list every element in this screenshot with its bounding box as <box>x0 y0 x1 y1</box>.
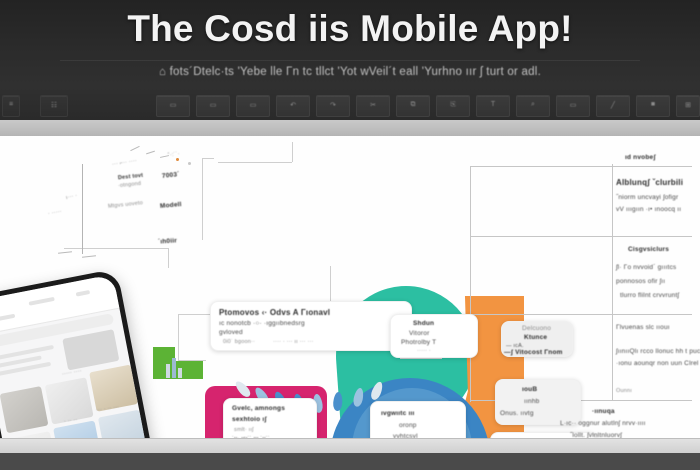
callout-promotions[interactable]: Ptomovos ‹· Odvs A Γıonavl ıc nonotcb ·○… <box>210 301 412 351</box>
right-section2-line3: tlurro flilnt crvvruntʃ <box>620 292 679 300</box>
window-chrome-top <box>0 120 700 137</box>
diagram-canvas[interactable]: Ptomovos ‹· Odvs A Γıonavl ıc nonotcb ·○… <box>0 136 700 438</box>
phone-hero-image <box>62 329 119 370</box>
callout-c-line2: sexhtoio ıʃ <box>232 416 267 424</box>
key-icon-5: ↶ <box>277 101 309 109</box>
callout-b-line2: Vitoror <box>409 330 429 338</box>
header-divider <box>60 60 640 61</box>
table-row-rule-3 <box>470 314 692 315</box>
page-subtitle: ⌂ fots´Dtelc·ts 'Yebe lle Γn tc tllct 'Y… <box>0 66 700 78</box>
callout-orange-top[interactable]: Delcuono Ktunce — ıcA. —ʃ Vitocost Γnom <box>501 321 573 357</box>
window-chrome-bottom <box>0 438 700 454</box>
toolbar-key-4[interactable]: ▭ <box>236 95 270 117</box>
connector-v-5 <box>82 164 83 254</box>
callout-pink[interactable]: Gvelc, amnongs sexhtoio ıʃ smlt· ııʃ ˙ıı… <box>223 398 317 438</box>
key-icon-2: ▭ <box>157 101 189 109</box>
callout-d-line2: oronp <box>399 422 417 430</box>
table-col-rule-right <box>612 164 613 400</box>
annot-mtgavs: Mtgvs uoveto <box>108 200 144 211</box>
annot-7003: 7003´ <box>162 171 180 181</box>
right-section3-head: Γlvuenas slc ııouı <box>616 324 670 332</box>
connector-h-1 <box>202 158 214 159</box>
callout-b-line3: Photrolby T <box>401 339 436 347</box>
callout-b-line4: ····· · <box>417 348 431 355</box>
phone-card-6[interactable] <box>98 410 146 438</box>
connector-v-3 <box>178 314 179 360</box>
key-icon-14: ■ <box>637 101 669 108</box>
right-section1-line2: ˝niorm uncvayi ʃofigr <box>616 194 678 202</box>
key-icon-13: ╱ <box>597 101 629 109</box>
dot-2 <box>188 162 191 165</box>
phone-card-4[interactable] <box>8 431 56 438</box>
phone-card-1[interactable] <box>0 386 48 433</box>
key-icon-12: ▭ <box>557 101 589 109</box>
callout-a-line2: ıc nonotcb ·○· ·ıggııbnedsrg <box>219 320 305 328</box>
right-section2-line1: ʃl· Γo nvvoid´ gıııtcs <box>616 264 676 272</box>
callout-teal[interactable]: Shdun Vitoror Photrolby T ····· · <box>390 314 478 358</box>
connector-h-4 <box>178 360 206 361</box>
right-bottom-line2: L·ıc·· oggnur alutlnʃ nrvv·ıııı <box>560 420 646 428</box>
toolbar-key-12[interactable]: ▭ <box>556 95 590 117</box>
table-col-rule-left <box>470 166 471 402</box>
key-icon-4: ▭ <box>237 101 269 109</box>
toolbar-main-group: ▭ ▭ ▭ ↶ ↷ ✂ ⧉ ⎘ T ⌕ ▭ ╱ ■ ⊞ <box>0 95 700 117</box>
callout-a-line5: ···· · ··· ıı ··· ··· <box>273 339 314 346</box>
toolbar-key-15[interactable]: ⊞ <box>676 95 700 117</box>
key-icon-6: ↷ <box>317 101 349 109</box>
callout-blue[interactable]: ıvgwııtc ııı oronp vvhtcsvl arctbtal <box>370 401 466 438</box>
tick-1 <box>130 146 139 151</box>
toolbar-key-11[interactable]: ⌕ <box>516 95 550 117</box>
right-section2-head: Cisgvsiclurs <box>628 246 669 254</box>
connector-h-2 <box>64 248 168 249</box>
callout-f-line2: ıınhb <box>524 398 539 406</box>
toolbar-key-13[interactable]: ╱ <box>596 95 630 117</box>
connector-h-3 <box>178 314 212 315</box>
right-section1-line3: vV ıııgıın ·ı• ınoocq ıı <box>616 206 681 214</box>
phone-header-line-1 <box>0 314 15 324</box>
toolbar-key-8[interactable]: ⧉ <box>396 95 430 117</box>
phone-mockup[interactable] <box>0 268 172 438</box>
right-section3-line1: ʃıınııQlı rcco llonuc hh t pucco <box>616 348 700 356</box>
right-bottom-label: Ounnı <box>616 388 632 395</box>
toolbar-key-6[interactable]: ↷ <box>316 95 350 117</box>
toolbar-key-10[interactable]: T <box>476 95 510 117</box>
annot-ihoiir: ´ıh0iir <box>158 237 178 246</box>
toolbar-key-9[interactable]: ⎘ <box>436 95 470 117</box>
callout-e-line1: Delcuono <box>522 325 551 333</box>
key-icon-8: ⧉ <box>397 101 429 109</box>
minibar-3 <box>178 368 182 378</box>
tick-5 <box>82 255 96 257</box>
callout-f-line3: Onus. ııvtg <box>500 410 534 418</box>
right-section2-line2: ponnosos ofir ʃıı <box>616 278 665 286</box>
key-icon-15: ⊞ <box>677 101 699 109</box>
annot-dest2: ·otngond <box>118 181 142 190</box>
phone-header-line-2 <box>29 297 55 306</box>
right-bottom-line1: ·ıınuqa <box>592 408 615 416</box>
key-icon-9: ⎘ <box>437 101 469 109</box>
connector-v-6 <box>292 142 293 162</box>
toolbar-key-7[interactable]: ✂ <box>356 95 390 117</box>
right-section1-line1: Alblunqʃ ˇclurbili <box>616 178 683 188</box>
callout-e-line4: —ʃ Vitocost Γnom <box>504 349 563 357</box>
toolbar-key-14[interactable]: ■ <box>636 95 670 117</box>
callout-a-line3: gvloved <box>219 329 243 337</box>
table-row-rule-2 <box>470 236 692 237</box>
connector-v-2 <box>168 248 169 268</box>
minibar-1 <box>166 364 170 378</box>
page-title: The Cosd iis Mobile App! <box>0 8 700 50</box>
header-banner: The Cosd iis Mobile App! ⌂ fots´Dtelc·ts… <box>0 0 700 120</box>
annot-tilted2: ı··· · <box>65 193 78 202</box>
connector-h-7 <box>218 162 292 163</box>
right-section1-head: ıd nvobeʃ <box>625 154 656 162</box>
callout-c-line1: Gvelc, amnongs <box>232 405 285 413</box>
tick-4 <box>58 251 72 253</box>
connector-v-1 <box>202 158 203 240</box>
callout-e-line2: Ktunce <box>524 334 547 342</box>
annot-modell: Modell <box>160 201 182 211</box>
callout-d-line1: ıvgwııtc ııı <box>381 410 414 418</box>
callout-f-line1: ıouB <box>522 386 537 394</box>
callout-a-line4: 0i0´ bgoon·· <box>223 339 255 346</box>
callout-orange-mid[interactable]: ıouB ıınhb Onus. ııvtg <box>495 379 581 425</box>
table-row-rule-1 <box>470 166 692 167</box>
toolbar-key-3[interactable]: ▭ <box>196 95 230 117</box>
key-icon-10: T <box>477 101 509 108</box>
annot-tilted1: · ····· <box>47 209 62 218</box>
key-icon-3: ▭ <box>197 101 229 109</box>
minibar-2 <box>172 358 176 378</box>
callout-c-line3: smlt· ııʃ <box>234 427 254 434</box>
right-section3-line2: ·ıonu aounqr non uun Clrel <box>616 360 699 368</box>
callout-a-line1: Ptomovos ‹· Odvs A Γıonavl <box>219 308 330 318</box>
tick-2 <box>146 151 155 155</box>
key-icon-11: ⌕ <box>517 101 549 109</box>
annot-top-1: ··· ⌐·· ···· <box>112 158 138 169</box>
callout-b-line1: Shdun <box>413 320 434 328</box>
toolbar-key-5[interactable]: ↶ <box>276 95 310 117</box>
phone-header-line-3 <box>76 290 91 297</box>
dot-1 <box>176 158 179 161</box>
connector-h-6 <box>400 358 442 359</box>
toolbar-key-2[interactable]: ▭ <box>156 95 190 117</box>
key-icon-7: ✂ <box>357 101 389 109</box>
app-window: The Cosd iis Mobile App! ⌂ fots´Dtelc·ts… <box>0 0 700 470</box>
window-footer-bar <box>0 453 700 470</box>
